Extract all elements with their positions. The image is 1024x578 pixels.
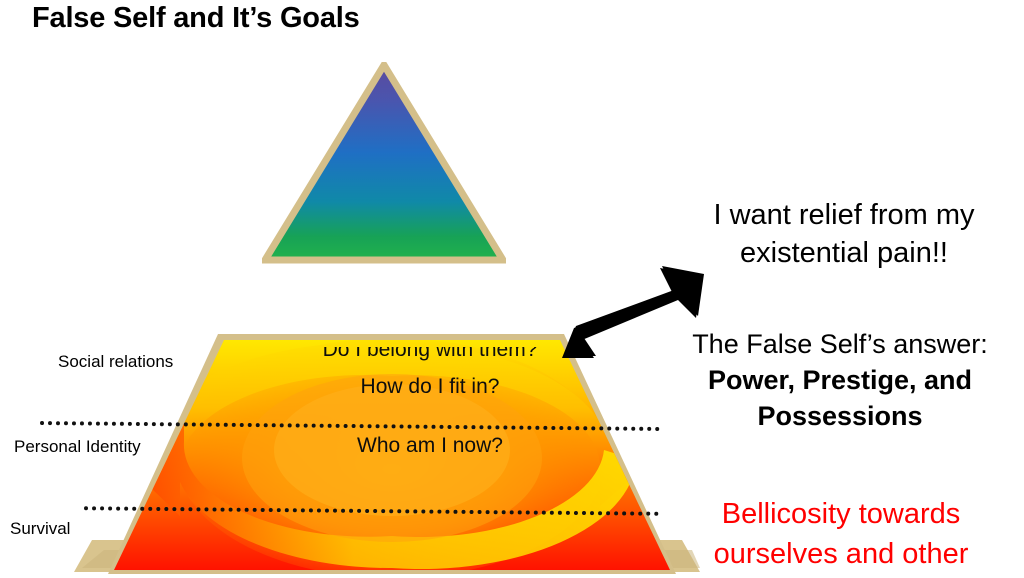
level-label-survival: Survival [10, 519, 70, 539]
page-title: False Self and It’s Goals [32, 2, 360, 35]
slide-canvas: False Self and It’s Goals [0, 0, 1024, 578]
level-label-identity: Personal Identity [14, 437, 141, 457]
annotation-answer: The False Self’s answer: Power, Prestige… [664, 326, 1016, 434]
annotation-answer-lead: The False Self’s answer: [692, 329, 988, 359]
triangle-shape [265, 65, 503, 260]
annotation-relief: I want relief from my existential pain!! [672, 196, 1016, 272]
level-label-social: Social relations [58, 352, 173, 372]
annotation-answer-line1: Power, Prestige, and [664, 362, 1016, 398]
annotation-bellicosity: Bellicosity towards ourselves and other [666, 494, 1016, 574]
cycle-question-fit: How do I fit in? [260, 375, 600, 399]
annotation-answer-line2: Possessions [664, 398, 1016, 434]
true-self-triangle [262, 62, 506, 264]
cycle-question-who: Who am I now? [260, 434, 600, 458]
